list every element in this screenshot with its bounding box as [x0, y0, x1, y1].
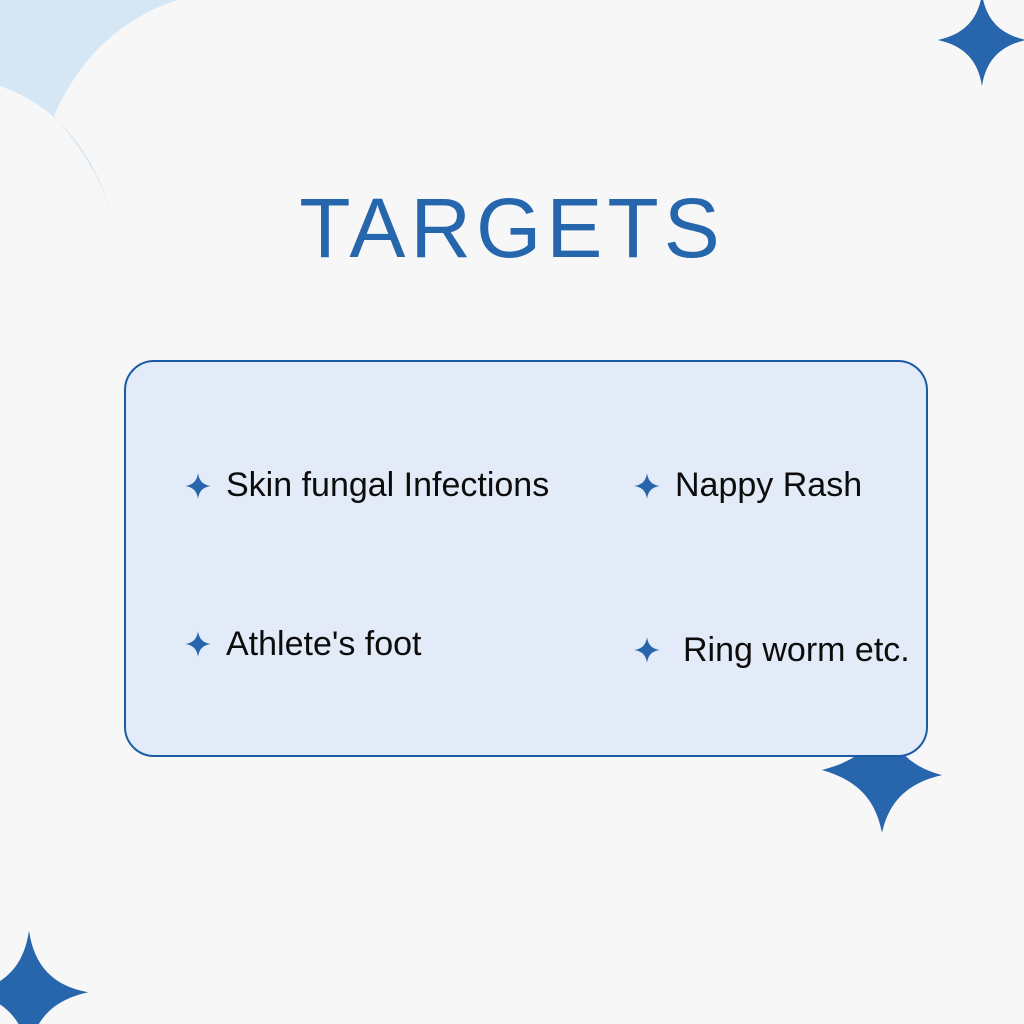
sparkle-top-right-icon — [934, 0, 1024, 88]
four-point-star-icon — [633, 472, 661, 500]
list-item-label: Skin fungal Infections — [226, 467, 549, 504]
four-point-star-icon — [633, 636, 661, 664]
targets-card: Skin fungal Infections Nappy Rash Athlet… — [124, 360, 928, 757]
targets-list: Skin fungal Infections Nappy Rash Athlet… — [126, 362, 926, 755]
list-item: Ring worm etc. — [593, 632, 910, 669]
list-item: Athlete's foot — [156, 626, 593, 663]
four-point-star-icon — [184, 630, 212, 658]
list-item-label: Athlete's foot — [226, 626, 422, 663]
list-item-label: Nappy Rash — [675, 467, 862, 504]
list-item-label: Ring worm etc. — [675, 632, 910, 669]
slide-canvas: TARGETS Skin fungal Infections Nappy Ras… — [0, 0, 1024, 1024]
four-point-star-icon — [184, 472, 212, 500]
list-item: Nappy Rash — [593, 424, 910, 548]
sparkle-bottom-left-icon — [0, 928, 92, 1024]
list-item: Skin fungal Infections — [156, 424, 593, 548]
page-title: TARGETS — [0, 186, 1024, 270]
